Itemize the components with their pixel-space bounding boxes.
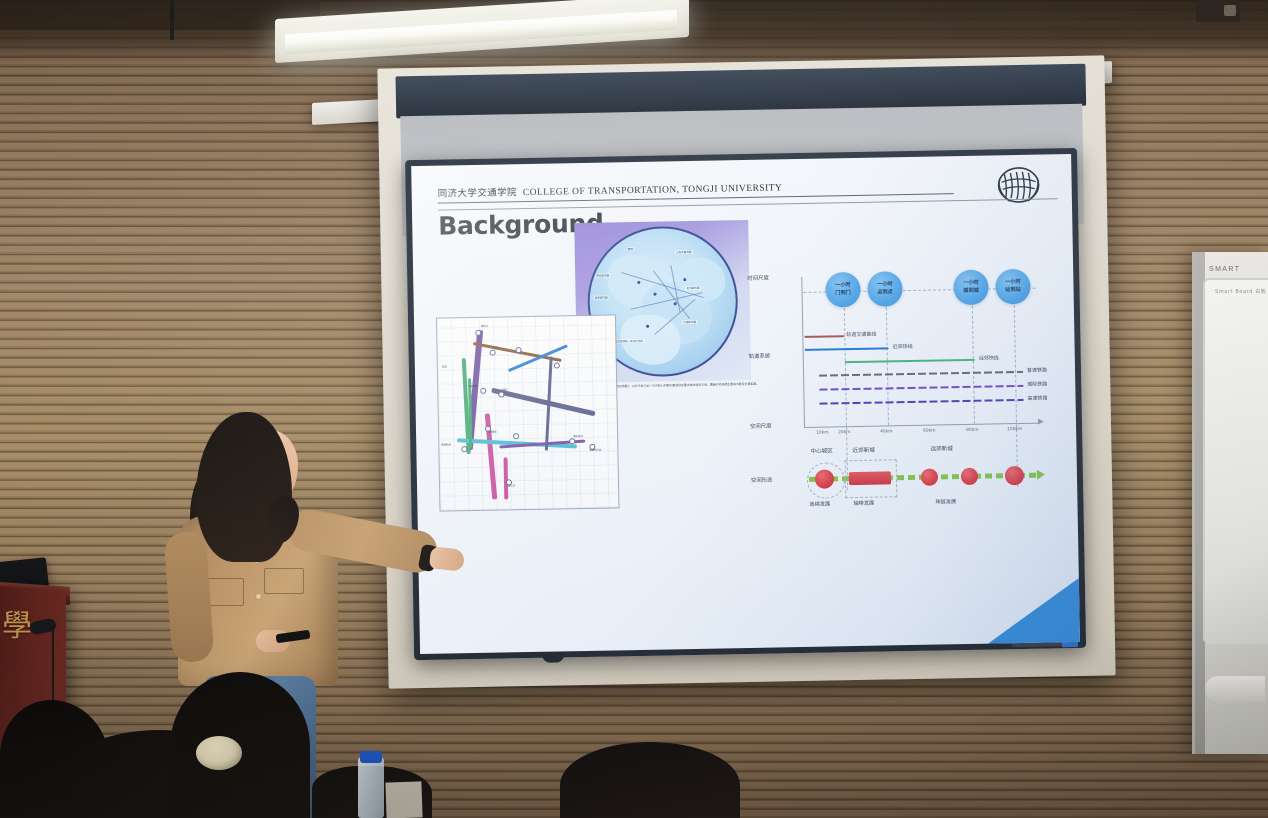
- ceiling-junction-box: [1196, 0, 1240, 22]
- map-tag: 宁波都市圈: [682, 320, 697, 324]
- map-tag: 合肥都市圈: [594, 296, 609, 300]
- display-notch: [542, 652, 564, 662]
- axis-row-label-space: 空间尺度: [750, 422, 772, 430]
- rail-line-suburban-express: [805, 347, 889, 351]
- time-node-station-to-station: 一小时 站到站: [995, 269, 1031, 305]
- slide-corner-accent: [987, 578, 1080, 644]
- whiteboard-surface[interactable]: Smart Board 白板: [1203, 278, 1268, 644]
- rail-line-label-conventional: 普速铁路: [1027, 366, 1047, 373]
- slide-header-cn: 同济大学交通学院: [438, 184, 517, 199]
- rail-line-label-highspeed: 高速铁路: [1027, 394, 1047, 401]
- zone-label-inner: 近郊新城: [852, 446, 875, 454]
- zone-label-outer: 远郊新城: [930, 444, 953, 452]
- rail-line-metro: [804, 335, 844, 338]
- presenter-pointing-hand: [429, 546, 465, 571]
- axis-row-label-form: 空间形态: [751, 476, 773, 484]
- diagram-x-axis: [804, 423, 1040, 428]
- station-label: 浦东机场: [573, 434, 583, 438]
- form-node-bead-2: [961, 468, 978, 485]
- time-node-point-to-point: 一小时 点到点: [867, 271, 903, 307]
- zone-label-central: 中心城区: [810, 446, 833, 454]
- time-node-door-to-door: 一小时 门到门: [825, 272, 861, 308]
- jacket-button: [256, 594, 261, 599]
- form-label-continuous: 连绵发展: [809, 500, 830, 507]
- corridor-arrow-icon: [1037, 470, 1045, 480]
- smart-whiteboard[interactable]: SMART Smart Board 白板: [1192, 252, 1268, 754]
- guide-dash-100km: [1013, 275, 1018, 487]
- x-tick-100km: 100km: [1007, 427, 1022, 432]
- rail-line-label-metro: 轨道交通普线: [846, 331, 876, 339]
- map-tag: 南京都市圈: [595, 273, 610, 277]
- slide-header-en: COLLEGE OF TRANSPORTATION, TONGJI UNIVER…: [523, 183, 783, 198]
- rail-line-highspeed: [820, 399, 1024, 405]
- map-legend: 图例: [627, 247, 634, 251]
- jacket-pocket-right: [264, 568, 304, 594]
- time-node-line2: 站到站: [1005, 286, 1021, 293]
- guide-dash-20km: [843, 278, 848, 490]
- presentation-slide: 同济大学交通学院 COLLEGE OF TRANSPORTATION, TONG…: [411, 154, 1080, 654]
- form-node-bead-1: [921, 469, 938, 486]
- rail-line-conventional: [819, 371, 1023, 377]
- diagram-y-axis: [801, 277, 805, 427]
- time-node-line2: 门到门: [835, 290, 851, 297]
- rail-line-label-suburban: 近郊快线: [892, 343, 912, 350]
- station-label: 嘉定北: [481, 324, 488, 328]
- lecture-hall-photo: Newline 同济大学交通学院 COLLEGE OF TRANSPORTATI…: [0, 0, 1268, 818]
- map-tag: 上海大都市圈: [675, 250, 693, 254]
- slide-header: 同济大学交通学院 COLLEGE OF TRANSPORTATION, TONG…: [438, 174, 1050, 211]
- presenter-left-arm: [164, 531, 215, 664]
- axis-row-label-time: 时间尺度: [747, 274, 769, 282]
- water-bottle: [358, 757, 384, 818]
- station-label: 临港新片区: [589, 448, 601, 452]
- ceiling-beam: [0, 0, 320, 30]
- whiteboard-pen-tray[interactable]: [1205, 676, 1265, 702]
- axis-row-label-rail: 轨道系统: [749, 352, 771, 360]
- station-label: 青浦: [442, 364, 447, 368]
- whiteboard-surface-label: Smart Board 白板: [1215, 288, 1266, 295]
- time-node-city-to-city: 一小时 城到城: [953, 270, 989, 306]
- audience-head: [560, 742, 740, 818]
- x-axis-arrow-icon: [1038, 419, 1044, 425]
- hair-scrunchie: [196, 736, 242, 770]
- time-node-line2: 点到点: [877, 289, 893, 296]
- station-label: 上海南站: [487, 430, 497, 434]
- station-label: 上海站: [500, 387, 507, 391]
- x-tick-40km: 40km: [880, 429, 893, 434]
- rail-line-intercity: [819, 385, 1023, 391]
- interactive-display-panel[interactable]: Newline 同济大学交通学院 COLLEGE OF TRANSPORTATI…: [405, 148, 1086, 660]
- smart-brand-label: SMART: [1209, 266, 1240, 273]
- form-label-axial: 轴带发展: [853, 500, 874, 507]
- water-bottle-cap: [360, 751, 382, 763]
- map-tag: 杭州都市圈: [685, 286, 700, 290]
- station-label: 安亭: [493, 346, 498, 350]
- form-node-bead-3: [1005, 466, 1024, 485]
- audience-head: [170, 672, 310, 818]
- form-label-bead: 珠链发展: [935, 498, 956, 505]
- x-tick-20km: 20km: [838, 430, 851, 435]
- rail-line-label-outer: 远郊快线: [979, 354, 999, 361]
- projection-screen-housing: Newline 同济大学交通学院 COLLEGE OF TRANSPORTATI…: [377, 55, 1115, 688]
- x-tick-10km: 10km: [816, 431, 829, 436]
- x-tick-80km: 80km: [966, 428, 979, 433]
- light-stem-left: [170, 0, 174, 40]
- paper-sheet: [385, 781, 422, 818]
- time-space-scale-diagram: 时间尺度 轨道系统 空间尺度 空间形态 一小: [745, 250, 1066, 516]
- station-label: 虹桥枢纽: [468, 384, 478, 388]
- form-bar-axial: [849, 471, 891, 485]
- time-node-line2: 城到城: [963, 287, 979, 294]
- station-label: 金山卫: [508, 483, 515, 487]
- rail-line-label-intercity: 城际铁路: [1027, 380, 1047, 387]
- x-tick-60km: 60km: [923, 429, 936, 434]
- rail-line-outer-express: [845, 359, 975, 363]
